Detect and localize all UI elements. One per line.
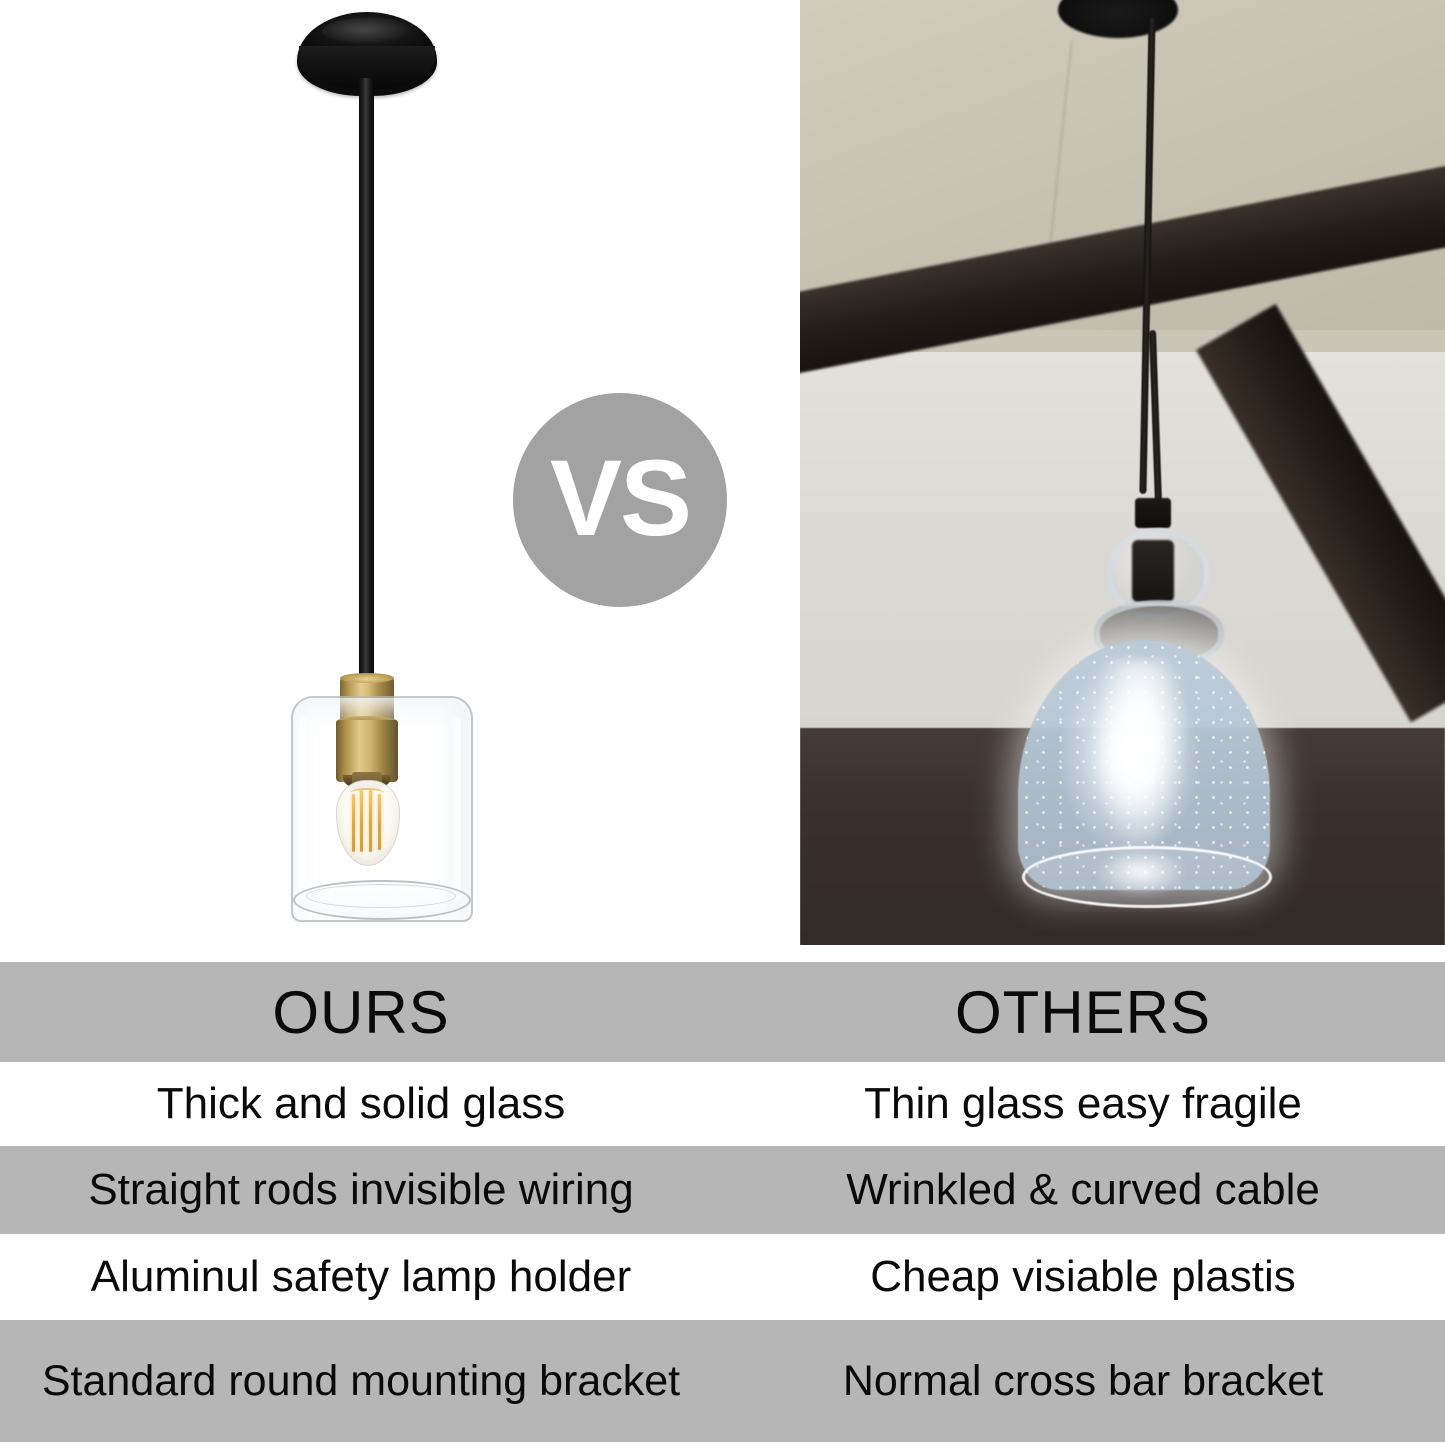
table-row: Thick and solid glass Thin glass easy fr… <box>0 1062 1445 1146</box>
others-feature-2: Wrinkled & curved cable <box>722 1165 1444 1215</box>
canopy-highlight <box>322 18 418 44</box>
finial-inner-stem <box>1132 540 1174 602</box>
ours-feature-3: Aluminul safety lamp holder <box>0 1252 722 1302</box>
comparison-table: OURS OTHERS Thick and solid glass Thin g… <box>0 962 1445 1445</box>
header-ours: OURS <box>0 978 722 1047</box>
table-row: Aluminul safety lamp holder Cheap visiab… <box>0 1234 1445 1320</box>
filament-strip <box>352 794 355 852</box>
others-feature-1: Thin glass easy fragile <box>722 1079 1444 1129</box>
others-feature-3: Cheap visiable plastis <box>722 1252 1444 1302</box>
plastic-socket <box>1135 498 1171 528</box>
table-row: Standard round mounting bracket Normal c… <box>0 1320 1445 1442</box>
rim-glow <box>1096 852 1186 896</box>
table-row: Straight rods invisible wiring Wrinkled … <box>0 1146 1445 1234</box>
vs-badge: VS <box>513 393 727 607</box>
filament-strip <box>369 790 372 852</box>
header-others: OTHERS <box>722 978 1444 1047</box>
comparison-page: VS OURS OTHERS <box>0 0 1445 1445</box>
ours-feature-4: Standard round mounting bracket <box>0 1357 722 1406</box>
straight-downrod <box>359 78 374 684</box>
glass-bottom-rim-inner <box>306 884 456 908</box>
ours-feature-1: Thick and solid glass <box>0 1079 722 1129</box>
filament-strip <box>360 790 363 852</box>
others-product-photo <box>800 0 1445 945</box>
ours-feature-2: Straight rods invisible wiring <box>0 1165 722 1215</box>
brass-socket-cap <box>340 673 394 683</box>
vs-label: VS <box>550 444 690 552</box>
filament-strip <box>378 794 381 850</box>
bulb-glow <box>1094 660 1186 850</box>
top-image-area: VS <box>0 0 1445 962</box>
glass-left-highlight <box>299 716 311 902</box>
glass-right-highlight <box>449 716 461 902</box>
others-feature-4: Normal cross bar bracket <box>722 1357 1444 1406</box>
table-header-row: OURS OTHERS <box>0 962 1445 1062</box>
